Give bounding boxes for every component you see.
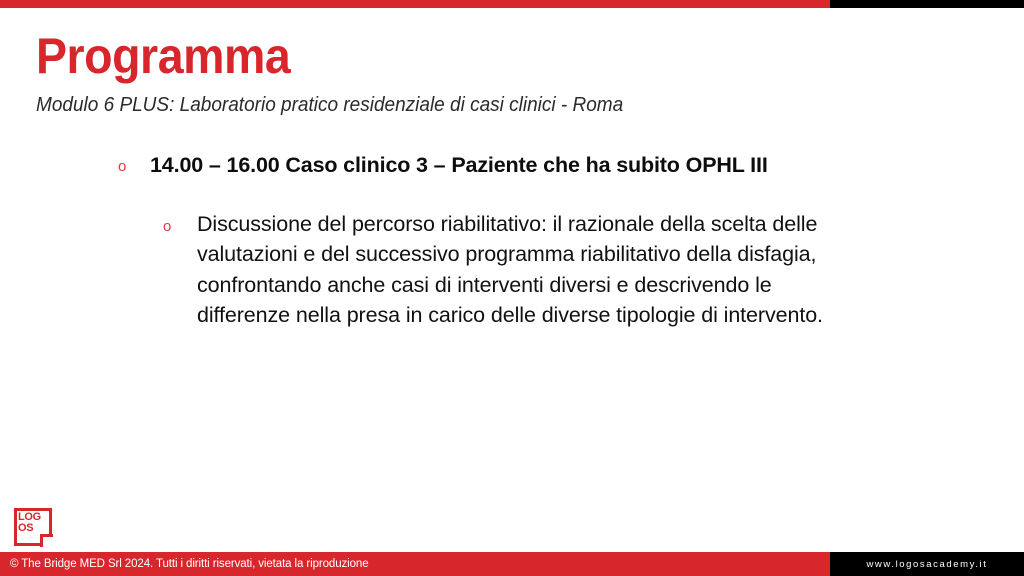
logos-logo: LOG OS [14,508,52,546]
top-accent-bar-red [0,0,830,8]
page-subtitle: Modulo 6 PLUS: Laboratorio pratico resid… [36,93,872,117]
slide-canvas: { "theme": { "brand_red": "#d8272c", "bu… [0,0,1024,576]
slide-footer: © The Bridge MED Srl 2024. Tutti i dirit… [0,552,1024,576]
list-item: o 14.00 – 16.00 Caso clinico 3 – Pazient… [118,150,818,181]
bullet-text-secondary: Discussione del percorso riabilitativo: … [197,209,843,331]
bullet-marker-icon: o [118,150,150,174]
logo-text-line2: OS [18,523,48,534]
footer-website-text[interactable]: www.logosacademy.it [866,559,987,570]
footer-copyright-text: © The Bridge MED Srl 2024. Tutti i dirit… [0,558,369,570]
logo-text: LOG OS [18,512,48,534]
page-title: Programma [36,30,854,83]
slide-header: Programma Modulo 6 PLUS: Laboratorio pra… [36,30,916,117]
top-accent-bar [0,0,1024,8]
slide-content: o 14.00 – 16.00 Caso clinico 3 – Pazient… [0,150,1024,331]
footer-copyright-band: © The Bridge MED Srl 2024. Tutti i dirit… [0,552,830,576]
sub-bullet-marker-icon: o [163,209,197,234]
logo-notch [40,534,53,547]
footer-website-band: www.logosacademy.it [830,552,1024,576]
bullet-text-primary: 14.00 – 16.00 Caso clinico 3 – Paziente … [150,150,768,181]
list-item: o Discussione del percorso riabilitativo… [163,209,843,331]
top-accent-bar-black [830,0,1024,8]
